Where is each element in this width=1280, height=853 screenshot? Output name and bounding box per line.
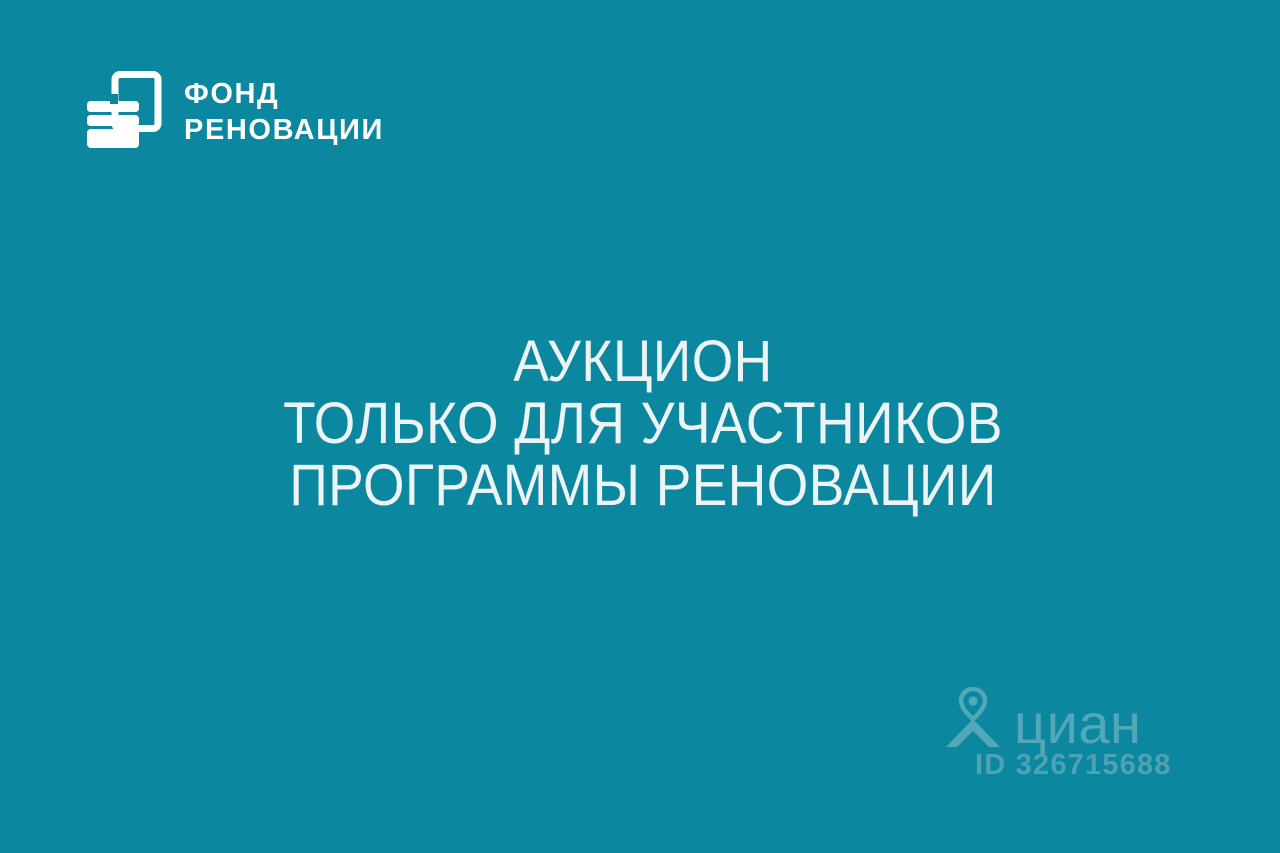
brand-logo: ФОНД РЕНОВАЦИИ (84, 70, 384, 154)
headline-line-3: ПРОГРАММЫ РЕНОВАЦИИ (57, 455, 1229, 517)
brand-line-renovacii: РЕНОВАЦИИ (184, 114, 384, 147)
brand-line-fond: ФОНД (184, 78, 384, 111)
auction-banner: ФОНД РЕНОВАЦИИ АУКЦИОН ТОЛЬКО ДЛЯ УЧАСТН… (0, 0, 1280, 853)
headline-line-1: АУКЦИОН (57, 331, 1229, 393)
brand-wordmark: ФОНД РЕНОВАЦИИ (184, 78, 384, 147)
headline-block: АУКЦИОН ТОЛЬКО ДЛЯ УЧАСТНИКОВ ПРОГРАММЫ … (0, 331, 1280, 517)
cian-pin-logo-icon (942, 687, 1004, 749)
cian-watermark: циан ID 326715688 (942, 687, 1172, 787)
listing-id-label: ID 326715688 (975, 749, 1172, 781)
headline-line-2: ТОЛЬКО ДЛЯ УЧАСТНИКОВ (57, 393, 1229, 455)
cian-wordmark: циан (1014, 699, 1141, 749)
cian-logo-row: циан (942, 687, 1141, 749)
documents-stack-icon (84, 70, 162, 154)
